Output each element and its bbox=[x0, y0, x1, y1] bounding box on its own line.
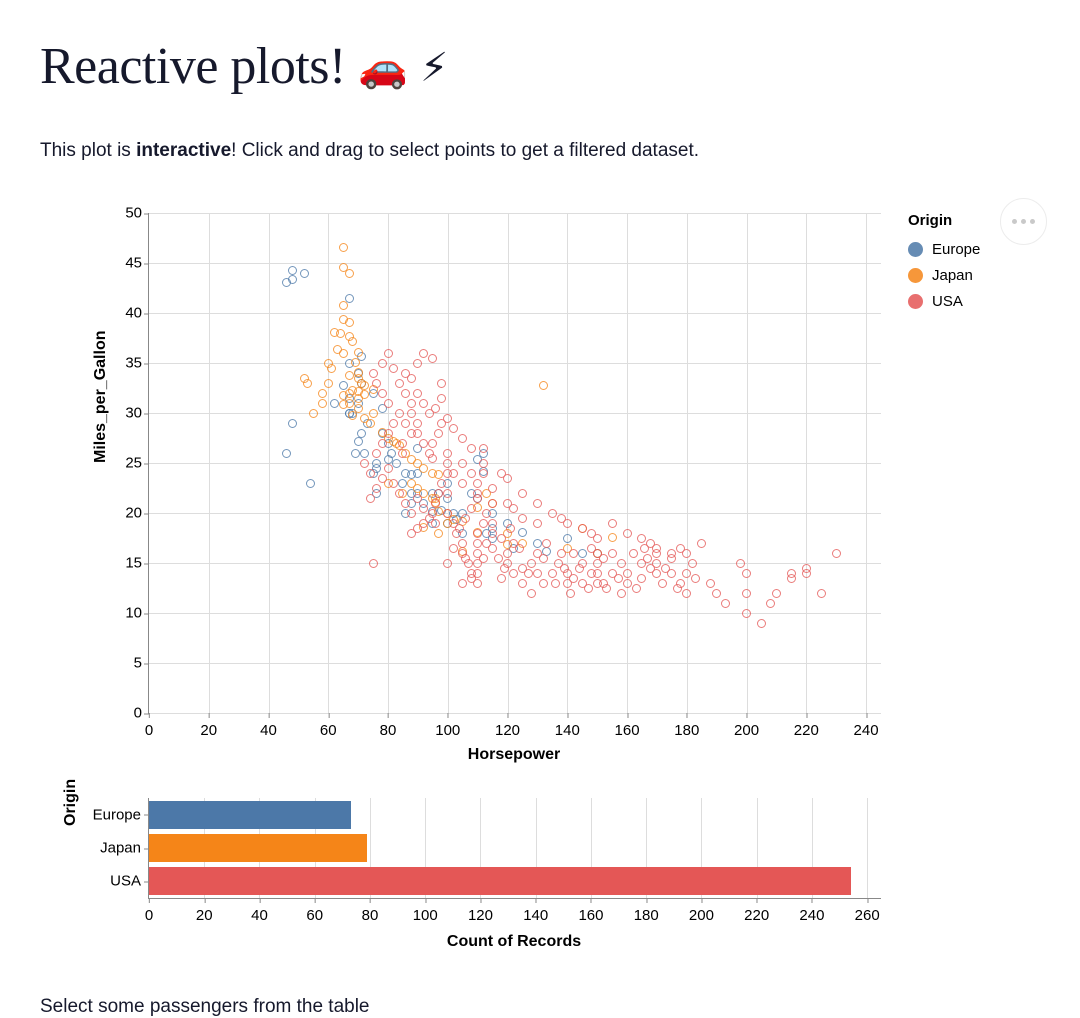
bar-row[interactable]: USA bbox=[149, 867, 851, 895]
scatter-point[interactable] bbox=[449, 469, 458, 478]
bar-x-tick-label: 40 bbox=[251, 898, 268, 924]
gridline-horizontal bbox=[149, 213, 881, 214]
scatter-point[interactable] bbox=[518, 514, 527, 523]
scatter-point[interactable] bbox=[387, 449, 396, 458]
legend-item-japan[interactable]: Japan bbox=[908, 262, 994, 288]
scatter-point[interactable] bbox=[395, 409, 404, 418]
gridline-vertical bbox=[747, 213, 748, 713]
scatter-point[interactable] bbox=[488, 499, 497, 508]
scatter-point[interactable] bbox=[378, 439, 387, 448]
legend-item-usa[interactable]: USA bbox=[908, 288, 994, 314]
scatter-point[interactable] bbox=[509, 504, 518, 513]
scatter-x-tick-label: 40 bbox=[260, 713, 277, 739]
scatter-point[interactable] bbox=[688, 559, 697, 568]
scatter-point[interactable] bbox=[509, 569, 518, 578]
scatter-point[interactable] bbox=[533, 519, 542, 528]
scatter-point[interactable] bbox=[467, 574, 476, 583]
scatter-point[interactable] bbox=[742, 609, 751, 618]
scatter-point[interactable] bbox=[506, 524, 515, 533]
scatter-point[interactable] bbox=[467, 444, 476, 453]
bar-x-tick-label: 20 bbox=[196, 898, 213, 924]
scatter-point[interactable] bbox=[578, 549, 587, 558]
scatter-point[interactable] bbox=[608, 533, 617, 542]
scatter-point[interactable] bbox=[682, 569, 691, 578]
legend-color-swatch bbox=[908, 294, 923, 309]
gridline-vertical bbox=[209, 213, 210, 713]
bar-x-tick-label: 60 bbox=[306, 898, 323, 924]
scatter-point[interactable] bbox=[479, 554, 488, 563]
scatter-point[interactable] bbox=[443, 489, 452, 498]
scatter-point[interactable] bbox=[548, 509, 557, 518]
scatter-plot[interactable]: 0510152025303540455002040608010012014016… bbox=[0, 195, 1080, 775]
scatter-x-axis-label: Horsepower bbox=[148, 746, 880, 764]
legend-color-swatch bbox=[908, 268, 923, 283]
gridline-vertical bbox=[806, 213, 807, 713]
scatter-point[interactable] bbox=[303, 379, 312, 388]
scatter-point[interactable] bbox=[661, 564, 670, 573]
scatter-point[interactable] bbox=[643, 554, 652, 563]
scatter-point[interactable] bbox=[458, 434, 467, 443]
gridline-horizontal bbox=[149, 513, 881, 514]
scatter-point[interactable] bbox=[533, 539, 542, 548]
scatter-point[interactable] bbox=[473, 479, 482, 488]
scatter-point[interactable] bbox=[742, 569, 751, 578]
scatter-point[interactable] bbox=[351, 358, 360, 367]
scatter-point[interactable] bbox=[599, 554, 608, 563]
scatter-point[interactable] bbox=[712, 589, 721, 598]
legend-item-label: Japan bbox=[932, 267, 973, 284]
scatter-point[interactable] bbox=[623, 579, 632, 588]
scatter-point[interactable] bbox=[449, 424, 458, 433]
scatter-point[interactable] bbox=[431, 519, 440, 528]
bar-chart[interactable]: 020406080100120140160180200220240260Euro… bbox=[0, 790, 1080, 960]
scatter-point[interactable] bbox=[428, 439, 437, 448]
scatter-point[interactable] bbox=[333, 345, 342, 354]
scatter-point[interactable] bbox=[542, 539, 551, 548]
bar-x-tick-label: 140 bbox=[523, 898, 548, 924]
gridline-vertical bbox=[269, 213, 270, 713]
scatter-point[interactable] bbox=[458, 579, 467, 588]
scatter-point[interactable] bbox=[757, 619, 766, 628]
scatter-point[interactable] bbox=[401, 499, 410, 508]
scatter-plot-area[interactable]: 0510152025303540455002040608010012014016… bbox=[148, 213, 881, 714]
bar-x-tick-label: 240 bbox=[799, 898, 824, 924]
scatter-point[interactable] bbox=[578, 524, 587, 533]
scatter-point[interactable] bbox=[398, 479, 407, 488]
scatter-point[interactable] bbox=[378, 474, 387, 483]
scatter-point[interactable] bbox=[503, 549, 512, 558]
scatter-point[interactable] bbox=[503, 474, 512, 483]
gridline-horizontal bbox=[149, 613, 881, 614]
scatter-point[interactable] bbox=[467, 469, 476, 478]
scatter-point[interactable] bbox=[378, 359, 387, 368]
scatter-point[interactable] bbox=[691, 574, 700, 583]
scatter-point[interactable] bbox=[282, 449, 291, 458]
scatter-point[interactable] bbox=[389, 364, 398, 373]
scatter-point[interactable] bbox=[817, 589, 826, 598]
scatter-point[interactable] bbox=[614, 574, 623, 583]
scatter-point[interactable] bbox=[357, 429, 366, 438]
scatter-point[interactable] bbox=[575, 564, 584, 573]
page-subtitle: This plot is interactive! Click and drag… bbox=[40, 140, 699, 162]
scatter-point[interactable] bbox=[366, 494, 375, 503]
scatter-y-tick-label: 45 bbox=[125, 255, 149, 272]
scatter-point[interactable] bbox=[413, 359, 422, 368]
scatter-point[interactable] bbox=[608, 519, 617, 528]
scatter-point[interactable] bbox=[584, 584, 593, 593]
scatter-point[interactable] bbox=[434, 489, 443, 498]
scatter-point[interactable] bbox=[339, 243, 348, 252]
scatter-point[interactable] bbox=[488, 529, 497, 538]
scatter-point[interactable] bbox=[401, 419, 410, 428]
bar-x-axis-label: Count of Records bbox=[148, 933, 880, 951]
scatter-point[interactable] bbox=[443, 449, 452, 458]
scatter-point[interactable] bbox=[434, 529, 443, 538]
subtitle-emphasis: interactive bbox=[136, 140, 231, 161]
scatter-point[interactable] bbox=[608, 549, 617, 558]
scatter-point[interactable] bbox=[449, 544, 458, 553]
scatter-point[interactable] bbox=[378, 389, 387, 398]
scatter-point[interactable] bbox=[369, 559, 378, 568]
scatter-point[interactable] bbox=[309, 409, 318, 418]
bar-row[interactable]: Japan bbox=[149, 834, 367, 862]
scatter-point[interactable] bbox=[652, 544, 661, 553]
page-title: Reactive plots! 🚗 ⚡ bbox=[40, 38, 448, 95]
scatter-x-tick-label: 80 bbox=[380, 713, 397, 739]
scatter-point[interactable] bbox=[369, 409, 378, 418]
scatter-point[interactable] bbox=[360, 459, 369, 468]
scatter-point[interactable] bbox=[366, 469, 375, 478]
scatter-point[interactable] bbox=[802, 564, 811, 573]
scatter-point[interactable] bbox=[533, 499, 542, 508]
scatter-point[interactable] bbox=[617, 589, 626, 598]
bar-row[interactable]: Europe bbox=[149, 801, 351, 829]
scatter-point[interactable] bbox=[345, 269, 354, 278]
bar-x-tick-label: 260 bbox=[855, 898, 880, 924]
scatter-point[interactable] bbox=[623, 569, 632, 578]
scatter-point[interactable] bbox=[354, 437, 363, 446]
scatter-point[interactable] bbox=[437, 379, 446, 388]
scatter-point[interactable] bbox=[434, 470, 443, 479]
scatter-point[interactable] bbox=[428, 354, 437, 363]
scatter-point[interactable] bbox=[407, 399, 416, 408]
scatter-point[interactable] bbox=[488, 519, 497, 528]
scatter-y-axis-label: Miles_per_Gallon bbox=[92, 331, 110, 464]
scatter-point[interactable] bbox=[395, 489, 404, 498]
gridline-vertical bbox=[867, 798, 868, 898]
scatter-point[interactable] bbox=[288, 266, 297, 275]
scatter-point[interactable] bbox=[637, 574, 646, 583]
bar-x-tick-label: 220 bbox=[744, 898, 769, 924]
scatter-point[interactable] bbox=[348, 411, 357, 420]
bar-europe[interactable] bbox=[149, 801, 351, 829]
scatter-point[interactable] bbox=[348, 337, 357, 346]
scatter-y-tick-label: 35 bbox=[125, 355, 149, 372]
scatter-point[interactable] bbox=[539, 554, 548, 563]
scatter-point[interactable] bbox=[413, 429, 422, 438]
scatter-point[interactable] bbox=[428, 454, 437, 463]
scatter-point[interactable] bbox=[360, 449, 369, 458]
scatter-point[interactable] bbox=[566, 589, 575, 598]
scatter-point[interactable] bbox=[288, 419, 297, 428]
gridline-horizontal bbox=[149, 313, 881, 314]
scatter-point[interactable] bbox=[646, 564, 655, 573]
scatter-point[interactable] bbox=[772, 589, 781, 598]
scatter-point[interactable] bbox=[482, 509, 491, 518]
scatter-point[interactable] bbox=[372, 379, 381, 388]
scatter-point[interactable] bbox=[300, 269, 309, 278]
scatter-point[interactable] bbox=[398, 439, 407, 448]
scatter-point[interactable] bbox=[569, 549, 578, 558]
scatter-point[interactable] bbox=[401, 389, 410, 398]
legend-item-europe[interactable]: Europe bbox=[908, 236, 994, 262]
scatter-point[interactable] bbox=[629, 549, 638, 558]
scatter-point[interactable] bbox=[524, 569, 533, 578]
scatter-point[interactable] bbox=[455, 524, 464, 533]
legend-title: Origin bbox=[908, 212, 994, 229]
scatter-y-tick-label: 40 bbox=[125, 305, 149, 322]
scatter-point[interactable] bbox=[640, 544, 649, 553]
scatter-point[interactable] bbox=[354, 348, 363, 357]
scatter-point[interactable] bbox=[563, 519, 572, 528]
scatter-point[interactable] bbox=[787, 574, 796, 583]
bar-x-tick-label: 0 bbox=[145, 898, 153, 924]
scatter-point[interactable] bbox=[306, 479, 315, 488]
scatter-point[interactable] bbox=[479, 444, 488, 453]
scatter-point[interactable] bbox=[551, 579, 560, 588]
scatter-point[interactable] bbox=[497, 574, 506, 583]
scatter-point[interactable] bbox=[407, 409, 416, 418]
subtitle-suffix: ! Click and drag to select points to get… bbox=[231, 140, 699, 161]
scatter-point[interactable] bbox=[339, 301, 348, 310]
scatter-point[interactable] bbox=[557, 549, 566, 558]
scatter-y-tick-label: 10 bbox=[125, 605, 149, 622]
scatter-point[interactable] bbox=[443, 459, 452, 468]
scatter-point[interactable] bbox=[602, 584, 611, 593]
scatter-point[interactable] bbox=[419, 504, 428, 513]
scatter-point[interactable] bbox=[431, 404, 440, 413]
gridline-horizontal bbox=[149, 413, 881, 414]
scatter-y-tick-label: 20 bbox=[125, 505, 149, 522]
bar-chart-plot-area[interactable]: 020406080100120140160180200220240260Euro… bbox=[148, 798, 881, 899]
scatter-point[interactable] bbox=[479, 459, 488, 468]
scatter-point[interactable] bbox=[667, 554, 676, 563]
gridline-vertical bbox=[567, 213, 568, 713]
scatter-point[interactable] bbox=[372, 484, 381, 493]
scatter-point[interactable] bbox=[413, 419, 422, 428]
bar-x-tick-label: 160 bbox=[578, 898, 603, 924]
scatter-point[interactable] bbox=[473, 529, 482, 538]
gridline-horizontal bbox=[149, 463, 881, 464]
scatter-point[interactable] bbox=[419, 349, 428, 358]
scatter-point[interactable] bbox=[419, 464, 428, 473]
scatter-x-tick-label: 160 bbox=[615, 713, 640, 739]
scatter-point[interactable] bbox=[419, 399, 428, 408]
scatter-y-tick-label: 15 bbox=[125, 555, 149, 572]
scatter-point[interactable] bbox=[339, 315, 348, 324]
scatter-point[interactable] bbox=[742, 589, 751, 598]
scatter-point[interactable] bbox=[354, 394, 363, 403]
scatter-point[interactable] bbox=[461, 514, 470, 523]
car-emoji-icon: 🚗 bbox=[358, 45, 407, 91]
scatter-point[interactable] bbox=[518, 528, 527, 537]
scatter-point[interactable] bbox=[398, 449, 407, 458]
scatter-point[interactable] bbox=[479, 519, 488, 528]
scatter-point[interactable] bbox=[407, 509, 416, 518]
scatter-point[interactable] bbox=[488, 484, 497, 493]
gridline-horizontal bbox=[149, 263, 881, 264]
scatter-point[interactable] bbox=[637, 534, 646, 543]
scatter-point[interactable] bbox=[515, 544, 524, 553]
scatter-point[interactable] bbox=[345, 371, 354, 380]
scatter-point[interactable] bbox=[766, 599, 775, 608]
scatter-point[interactable] bbox=[413, 494, 422, 503]
bar-x-tick-label: 180 bbox=[634, 898, 659, 924]
bar-category-label: Europe bbox=[93, 806, 149, 823]
scatter-point[interactable] bbox=[593, 534, 602, 543]
scatter-point[interactable] bbox=[407, 374, 416, 383]
scatter-y-tick-label: 25 bbox=[125, 455, 149, 472]
ellipsis-dot bbox=[1021, 219, 1026, 224]
scatter-point[interactable] bbox=[369, 369, 378, 378]
scatter-point[interactable] bbox=[482, 539, 491, 548]
scatter-point[interactable] bbox=[539, 381, 548, 390]
scatter-y-tick-label: 50 bbox=[125, 205, 149, 222]
scatter-point[interactable] bbox=[569, 574, 578, 583]
scatter-point[interactable] bbox=[339, 400, 348, 409]
scatter-point[interactable] bbox=[736, 559, 745, 568]
scatter-point[interactable] bbox=[539, 579, 548, 588]
footer-instruction: Select some passengers from the table bbox=[40, 996, 370, 1018]
scatter-point[interactable] bbox=[339, 381, 348, 390]
gridline-vertical bbox=[627, 213, 628, 713]
page-title-text: Reactive plots! bbox=[40, 38, 346, 95]
scatter-point[interactable] bbox=[832, 549, 841, 558]
scatter-point[interactable] bbox=[318, 399, 327, 408]
scatter-point[interactable] bbox=[458, 539, 467, 548]
scatter-point[interactable] bbox=[676, 544, 685, 553]
scatter-point[interactable] bbox=[288, 275, 297, 284]
scatter-point[interactable] bbox=[500, 564, 509, 573]
scatter-point[interactable] bbox=[327, 364, 336, 373]
scatter-point[interactable] bbox=[593, 569, 602, 578]
scatter-x-tick-label: 220 bbox=[794, 713, 819, 739]
scatter-point[interactable] bbox=[563, 534, 572, 543]
scatter-x-tick-label: 20 bbox=[200, 713, 217, 739]
scatter-point[interactable] bbox=[366, 419, 375, 428]
scatter-point[interactable] bbox=[697, 539, 706, 548]
scatter-point[interactable] bbox=[339, 391, 348, 400]
scatter-point[interactable] bbox=[527, 559, 536, 568]
scatter-point[interactable] bbox=[431, 499, 440, 508]
scatter-point[interactable] bbox=[437, 479, 446, 488]
scatter-point[interactable] bbox=[434, 429, 443, 438]
scatter-point[interactable] bbox=[721, 599, 730, 608]
scatter-point[interactable] bbox=[518, 489, 527, 498]
legend-item-label: USA bbox=[932, 293, 963, 310]
scatter-x-tick-label: 120 bbox=[495, 713, 520, 739]
scatter-point[interactable] bbox=[330, 328, 339, 337]
scatter-point[interactable] bbox=[658, 579, 667, 588]
scatter-point[interactable] bbox=[384, 399, 393, 408]
scatter-x-tick-label: 200 bbox=[734, 713, 759, 739]
scatter-point[interactable] bbox=[673, 584, 682, 593]
gridline-vertical bbox=[328, 213, 329, 713]
bar-category-label: Japan bbox=[100, 840, 149, 857]
scatter-point[interactable] bbox=[617, 559, 626, 568]
scatter-point[interactable] bbox=[473, 539, 482, 548]
legend-item-label: Europe bbox=[932, 241, 980, 258]
scatter-x-tick-label: 240 bbox=[854, 713, 879, 739]
bar-japan[interactable] bbox=[149, 834, 367, 862]
scatter-point[interactable] bbox=[682, 589, 691, 598]
scatter-point[interactable] bbox=[443, 509, 452, 518]
scatter-point[interactable] bbox=[706, 579, 715, 588]
bar-y-axis-label: Origin bbox=[62, 779, 80, 826]
scatter-x-tick-label: 60 bbox=[320, 713, 337, 739]
bar-category-label: USA bbox=[110, 873, 149, 890]
ellipsis-icon[interactable] bbox=[1000, 198, 1047, 245]
scatter-point[interactable] bbox=[372, 449, 381, 458]
scatter-point[interactable] bbox=[467, 504, 476, 513]
bar-x-tick-label: 200 bbox=[689, 898, 714, 924]
ellipsis-dot bbox=[1012, 219, 1017, 224]
scatter-x-tick-label: 140 bbox=[555, 713, 580, 739]
gridline-horizontal bbox=[149, 563, 881, 564]
bar-usa[interactable] bbox=[149, 867, 851, 895]
scatter-point[interactable] bbox=[443, 414, 452, 423]
scatter-point[interactable] bbox=[392, 459, 401, 468]
scatter-point[interactable] bbox=[527, 589, 536, 598]
scatter-point[interactable] bbox=[384, 429, 393, 438]
scatter-point[interactable] bbox=[497, 534, 506, 543]
scatter-x-tick-label: 0 bbox=[145, 713, 153, 739]
bar-x-tick-label: 100 bbox=[413, 898, 438, 924]
scatter-point[interactable] bbox=[318, 389, 327, 398]
scatter-point[interactable] bbox=[389, 419, 398, 428]
scatter-point[interactable] bbox=[413, 389, 422, 398]
scatter-point[interactable] bbox=[324, 379, 333, 388]
scatter-point[interactable] bbox=[548, 569, 557, 578]
scatter-point[interactable] bbox=[518, 579, 527, 588]
scatter-point[interactable] bbox=[437, 394, 446, 403]
bar-x-tick-label: 80 bbox=[362, 898, 379, 924]
scatter-point[interactable] bbox=[389, 479, 398, 488]
scatter-point[interactable] bbox=[443, 559, 452, 568]
subtitle-prefix: This plot is bbox=[40, 140, 136, 161]
legend-color-swatch bbox=[908, 242, 923, 257]
gridline-vertical bbox=[508, 213, 509, 713]
scatter-point[interactable] bbox=[533, 569, 542, 578]
scatter-point[interactable] bbox=[587, 544, 596, 553]
scatter-point[interactable] bbox=[632, 584, 641, 593]
scatter-point[interactable] bbox=[458, 479, 467, 488]
scatter-point[interactable] bbox=[330, 399, 339, 408]
scatter-point[interactable] bbox=[384, 349, 393, 358]
scatter-point[interactable] bbox=[458, 459, 467, 468]
scatter-point[interactable] bbox=[473, 494, 482, 503]
scatter-point[interactable] bbox=[464, 559, 473, 568]
scatter-x-tick-label: 100 bbox=[435, 713, 460, 739]
scatter-point[interactable] bbox=[351, 449, 360, 458]
scatter-point[interactable] bbox=[384, 464, 393, 473]
scatter-point[interactable] bbox=[623, 529, 632, 538]
scatter-point[interactable] bbox=[494, 554, 503, 563]
scatter-point[interactable] bbox=[395, 379, 404, 388]
scatter-point[interactable] bbox=[419, 439, 428, 448]
scatter-y-tick-label: 5 bbox=[134, 655, 149, 672]
scatter-point[interactable] bbox=[479, 469, 488, 478]
